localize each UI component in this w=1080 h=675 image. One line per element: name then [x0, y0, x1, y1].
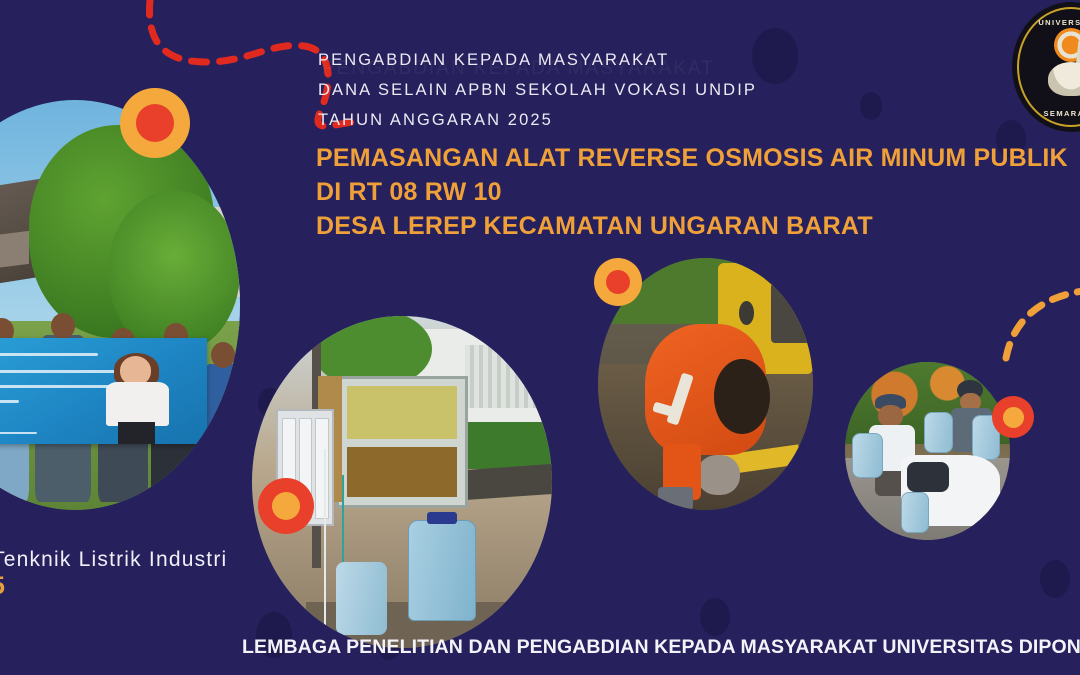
program-label: Tenknik Listrik Industri: [0, 548, 227, 572]
footer-institution: LEMBAGA PENELITIAN DAN PENGABDIAN KEPADA…: [242, 636, 1080, 659]
banner-graphic: [0, 338, 207, 445]
photo-motorcycle-delivery: [845, 362, 1010, 540]
dot-badge-top-left: [120, 88, 190, 158]
background-blob: [860, 92, 882, 120]
header-line-2: DANA SELAIN APBN SEKOLAH VOKASI UNDIP: [318, 76, 757, 104]
seal-lotus-icon: [1048, 62, 1080, 96]
undip-seal: UNIVERSITAS SEMARANG: [1012, 2, 1080, 132]
poster-canvas: UNIVERSITAS SEMARANG PENGABDIAN KEPADA M…: [0, 0, 1080, 675]
title-line-3: DESA LEREP KECAMATAN UNGARAN BARAT: [316, 206, 873, 247]
program-fragment: 5: [0, 572, 5, 601]
seal-bottom-text: SEMARANG: [1012, 109, 1080, 118]
dot-badge-photo3: [594, 258, 642, 306]
seal-top-text: UNIVERSITAS: [1012, 18, 1080, 27]
background-blob: [700, 598, 730, 636]
header-line-3: TAHUN ANGGARAN 2025: [318, 106, 553, 134]
dashed-arc-orange-icon: [998, 258, 1080, 368]
background-blob: [1040, 560, 1070, 598]
header-line-1: PENGABDIAN KEPADA MASYARAKAT: [318, 46, 669, 74]
dot-badge-photo2: [258, 478, 314, 534]
dot-badge-photo4: [992, 396, 1034, 438]
background-blob: [752, 28, 798, 84]
photo-group-banner: [0, 100, 240, 510]
